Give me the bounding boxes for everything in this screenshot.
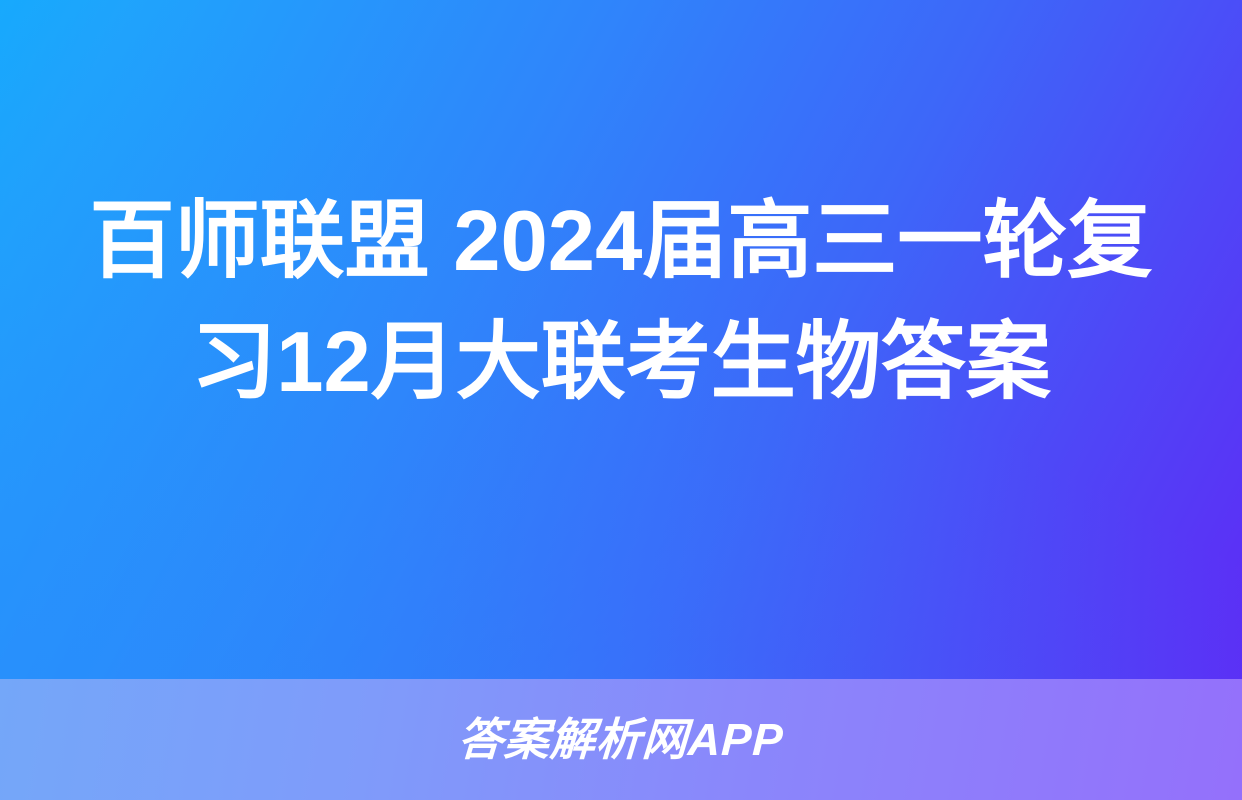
- poster-canvas: 百师联盟 2024届高三一轮复习12月大联考生物答案 答案解析网APP: [0, 0, 1242, 800]
- brand-watermark-text: 答案解析网APP: [457, 717, 785, 762]
- brand-watermark-band: 答案解析网APP: [0, 679, 1242, 800]
- hero-banner: 百师联盟 2024届高三一轮复习12月大联考生物答案: [0, 0, 1242, 679]
- page-title: 百师联盟 2024届高三一轮复习12月大联考生物答案: [80, 182, 1162, 423]
